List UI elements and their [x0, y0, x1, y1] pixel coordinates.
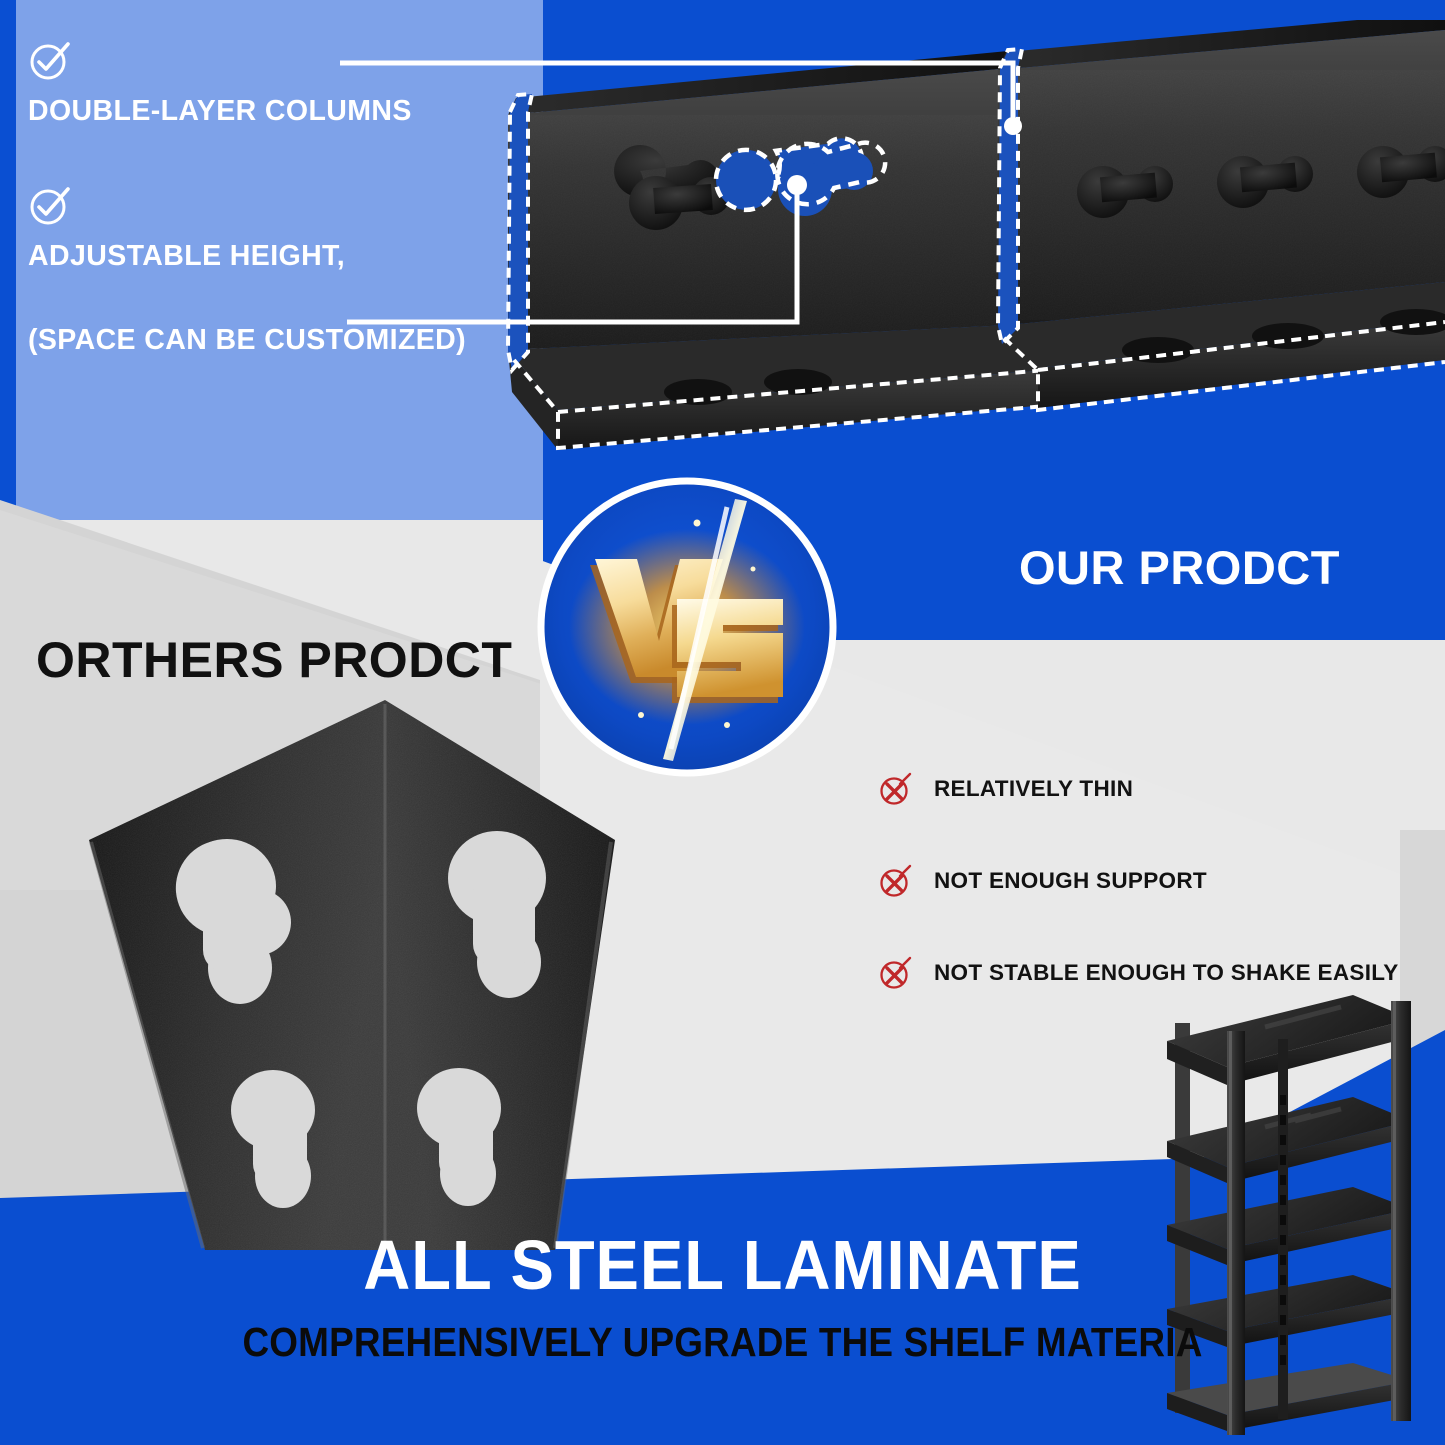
shelf-tier-1 — [1167, 995, 1411, 1085]
our-product-heading: OUR PRODCT — [1019, 540, 1340, 595]
con-item-1: NOT ENOUGH SUPPORT — [878, 864, 1438, 898]
shelf-tier-5 — [1167, 1363, 1411, 1431]
feature-item-0: DOUBLE-LAYER COLUMNS — [28, 38, 528, 127]
bottom-banner: ALL STEEL LAMINATE COMPREHENSIVELY UPGRA… — [0, 1225, 1445, 1366]
column-left-piece — [508, 50, 1046, 450]
shelf-tier-2 — [1167, 1097, 1411, 1183]
check-circle-icon — [28, 183, 72, 227]
banner-subtitle: COMPREHENSIVELY UPGRADE THE SHELF MATERI… — [72, 1319, 1373, 1366]
con-label-1: NOT ENOUGH SUPPORT — [934, 868, 1207, 894]
left-accent-strip — [0, 0, 16, 520]
product-infographic: DOUBLE-LAYER COLUMNS ADJUSTABLE HEIGHT, … — [0, 0, 1445, 1445]
cross-circle-icon — [878, 956, 912, 990]
others-product-heading: ORTHERS PRODCT — [36, 631, 512, 689]
feature-label-0: DOUBLE-LAYER COLUMNS — [28, 96, 528, 127]
cross-circle-icon — [878, 864, 912, 898]
bracket-photo — [55, 690, 635, 1250]
con-item-0: RELATIVELY THIN — [878, 772, 1438, 806]
cross-circle-icon — [878, 772, 912, 806]
column-right-piece — [998, 20, 1445, 410]
check-circle-icon — [28, 38, 72, 82]
column-photo — [498, 20, 1445, 490]
feature-item-1: ADJUSTABLE HEIGHT, (SPACE CAN BE CUSTOMI… — [28, 183, 528, 356]
feature-label-2: (SPACE CAN BE CUSTOMIZED) — [28, 325, 528, 356]
feature-label-1: ADJUSTABLE HEIGHT, — [28, 241, 528, 272]
feature-list: DOUBLE-LAYER COLUMNS ADJUSTABLE HEIGHT, … — [28, 38, 528, 362]
banner-title: ALL STEEL LAMINATE — [51, 1225, 1395, 1305]
shelf-unit-photo — [1115, 975, 1445, 1445]
con-label-0: RELATIVELY THIN — [934, 776, 1133, 802]
